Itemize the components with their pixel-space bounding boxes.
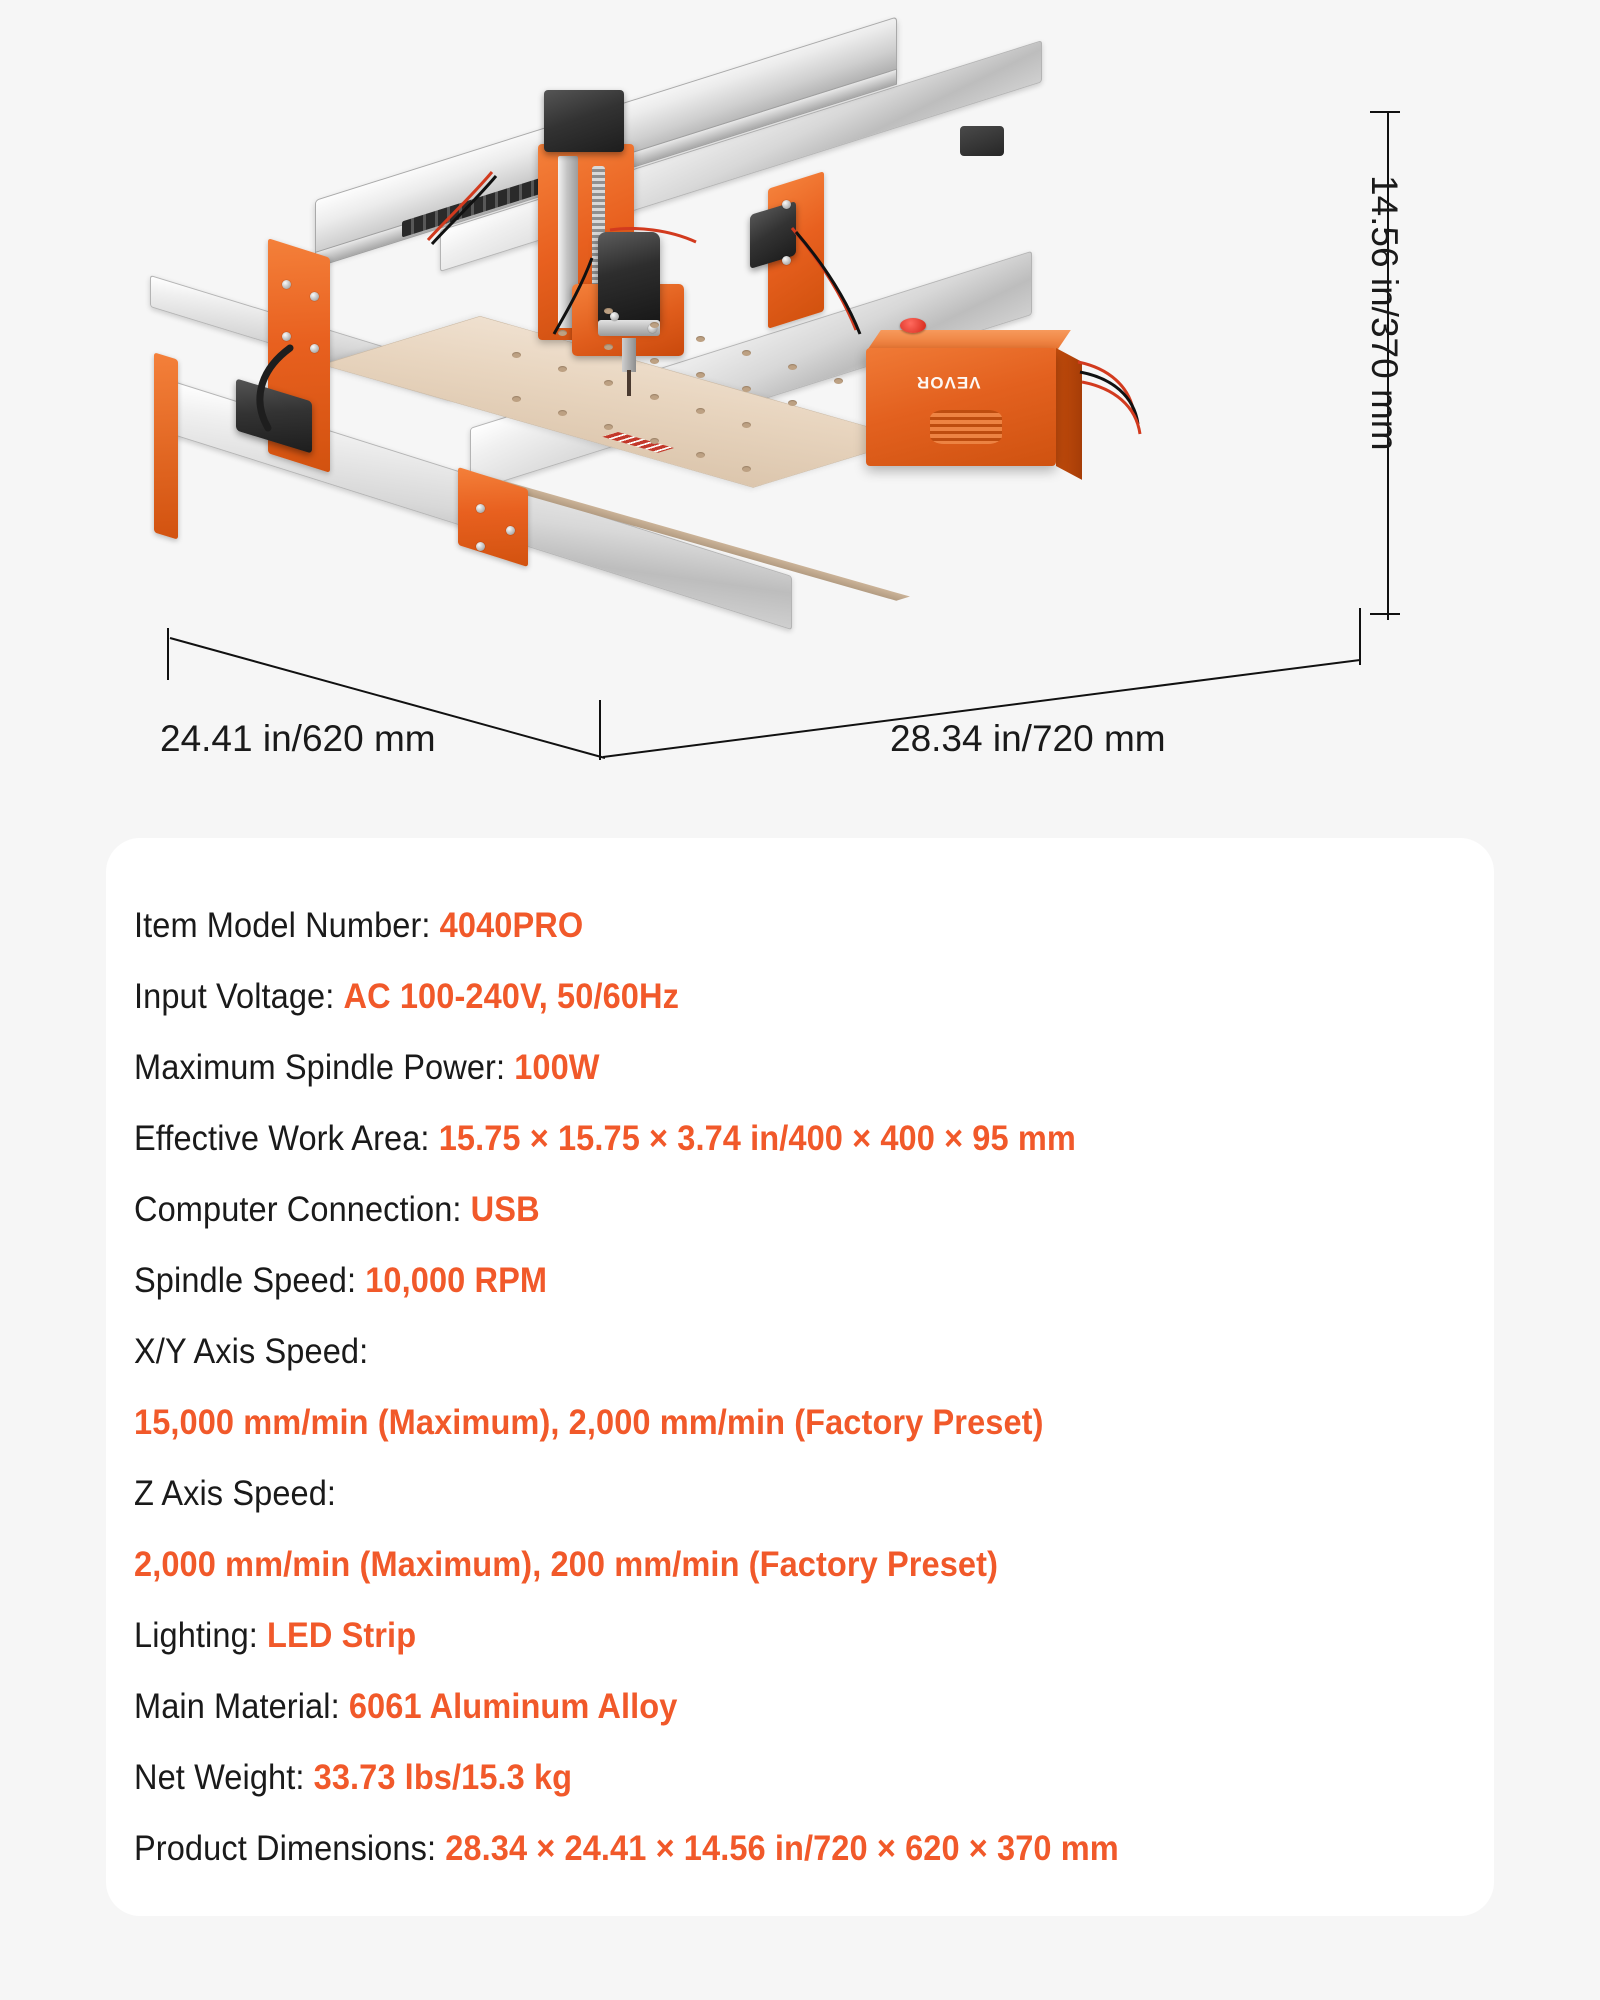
spec-label: Z Axis Speed: xyxy=(134,1474,336,1513)
spec-row: Input Voltage: AC 100-240V, 50/60Hz xyxy=(134,961,1399,1032)
spec-row: Product Dimensions: 28.34 × 24.41 × 14.5… xyxy=(134,1813,1399,1884)
spec-row: Z Axis Speed: xyxy=(134,1458,1399,1529)
spec-label: Effective Work Area: xyxy=(134,1119,439,1158)
spec-value: 2,000 mm/min (Maximum), 200 mm/min (Fact… xyxy=(134,1545,998,1584)
dimension-label-height: 14.56 in/370 mm xyxy=(1363,175,1405,451)
spec-value: 10,000 RPM xyxy=(365,1261,547,1300)
spec-value: 15,000 mm/min (Maximum), 2,000 mm/min (F… xyxy=(134,1403,1044,1442)
spec-label: Product Dimensions: xyxy=(134,1829,445,1868)
spec-label: Item Model Number: xyxy=(134,906,440,945)
spec-label: Computer Connection: xyxy=(134,1190,471,1229)
spec-row: Spindle Speed: 10,000 RPM xyxy=(134,1245,1399,1316)
spec-row: Effective Work Area: 15.75 × 15.75 × 3.7… xyxy=(134,1103,1399,1174)
spec-row: Main Material: 6061 Aluminum Alloy xyxy=(134,1671,1399,1742)
spec-value: 15.75 × 15.75 × 3.74 in/400 × 400 × 95 m… xyxy=(439,1119,1076,1158)
dimension-lines xyxy=(0,0,1600,830)
dimension-label-depth: 28.34 in/720 mm xyxy=(890,718,1166,760)
product-hero: VEVOR 24.41 xyxy=(0,0,1600,830)
spec-value: AC 100-240V, 50/60Hz xyxy=(344,977,679,1016)
spec-row: X/Y Axis Speed: xyxy=(134,1316,1399,1387)
spec-row-value: 2,000 mm/min (Maximum), 200 mm/min (Fact… xyxy=(134,1529,1399,1600)
spec-label: Spindle Speed: xyxy=(134,1261,365,1300)
spec-label: X/Y Axis Speed: xyxy=(134,1332,368,1371)
spec-row: Lighting: LED Strip xyxy=(134,1600,1399,1671)
spec-label: Net Weight: xyxy=(134,1758,314,1797)
spec-value: 4040PRO xyxy=(440,906,584,945)
spec-value: LED Strip xyxy=(267,1616,416,1655)
spec-value: 6061 Aluminum Alloy xyxy=(349,1687,678,1726)
spec-row: Computer Connection: USB xyxy=(134,1174,1399,1245)
spec-row-value: 15,000 mm/min (Maximum), 2,000 mm/min (F… xyxy=(134,1387,1399,1458)
spec-value: 100W xyxy=(514,1048,599,1087)
specification-list: Item Model Number: 4040PROInput Voltage:… xyxy=(134,890,1494,1884)
spec-label: Input Voltage: xyxy=(134,977,344,1016)
spec-label: Main Material: xyxy=(134,1687,349,1726)
spec-label: Lighting: xyxy=(134,1616,267,1655)
spec-value: 33.73 lbs/15.3 kg xyxy=(314,1758,573,1797)
spec-row: Item Model Number: 4040PRO xyxy=(134,890,1399,961)
dimension-label-width: 24.41 in/620 mm xyxy=(160,718,436,760)
specifications-card: Item Model Number: 4040PROInput Voltage:… xyxy=(106,838,1494,1916)
spec-value: USB xyxy=(471,1190,540,1229)
spec-label: Maximum Spindle Power: xyxy=(134,1048,514,1087)
spec-row: Net Weight: 33.73 lbs/15.3 kg xyxy=(134,1742,1399,1813)
spec-value: 28.34 × 24.41 × 14.56 in/720 × 620 × 370… xyxy=(445,1829,1119,1868)
spec-row: Maximum Spindle Power: 100W xyxy=(134,1032,1399,1103)
